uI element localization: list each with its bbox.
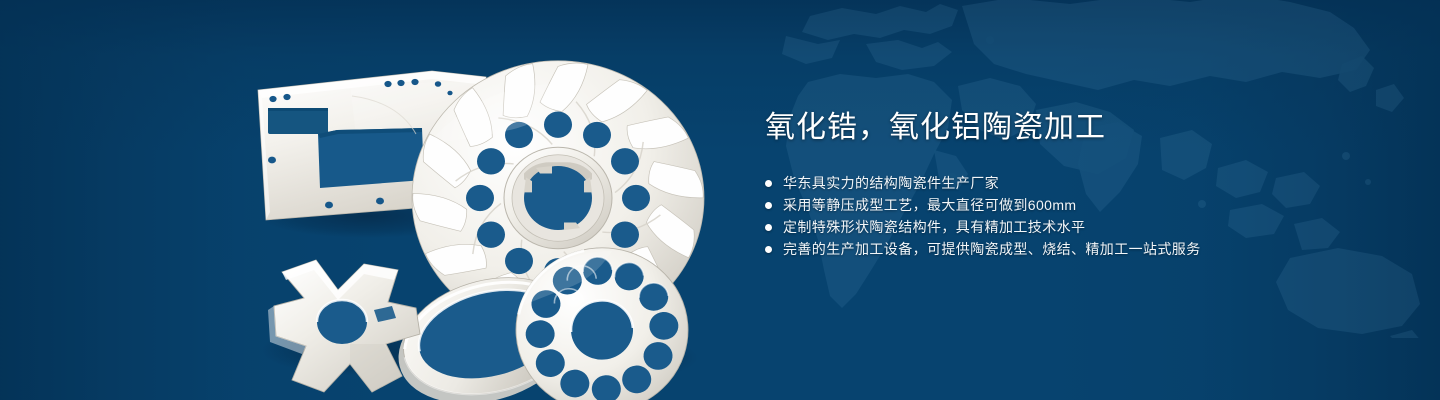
ceramic-products-photo <box>240 38 692 382</box>
hero-banner: 氧化锆，氧化铝陶瓷加工 华东具实力的结构陶瓷件生产厂家 采用等静压成型工艺，最大… <box>0 0 1440 400</box>
page-title: 氧化锆，氧化铝陶瓷加工 <box>765 108 1365 148</box>
list-item: 定制特殊形状陶瓷结构件，具有精加工技术水平 <box>765 216 1365 238</box>
list-item: 华东具实力的结构陶瓷件生产厂家 <box>765 172 1365 194</box>
bullet-dot-icon <box>765 202 772 209</box>
bullet-dot-icon <box>765 224 772 231</box>
list-item: 采用等静压成型工艺，最大直径可做到600mm <box>765 194 1365 216</box>
feature-text: 定制特殊形状陶瓷结构件，具有精加工技术水平 <box>783 216 1085 238</box>
feature-list: 华东具实力的结构陶瓷件生产厂家 采用等静压成型工艺，最大直径可做到600mm 定… <box>765 172 1365 260</box>
banner-text-block: 氧化锆，氧化铝陶瓷加工 华东具实力的结构陶瓷件生产厂家 采用等静压成型工艺，最大… <box>765 108 1365 260</box>
bullet-dot-icon <box>765 246 772 253</box>
feature-text: 华东具实力的结构陶瓷件生产厂家 <box>783 172 999 194</box>
feature-text: 采用等静压成型工艺，最大直径可做到600mm <box>783 194 1076 216</box>
list-item: 完善的生产加工设备，可提供陶瓷成型、烧结、精加工一站式服务 <box>765 238 1365 260</box>
feature-text: 完善的生产加工设备，可提供陶瓷成型、烧结、精加工一站式服务 <box>783 238 1201 260</box>
bullet-dot-icon <box>765 180 772 187</box>
